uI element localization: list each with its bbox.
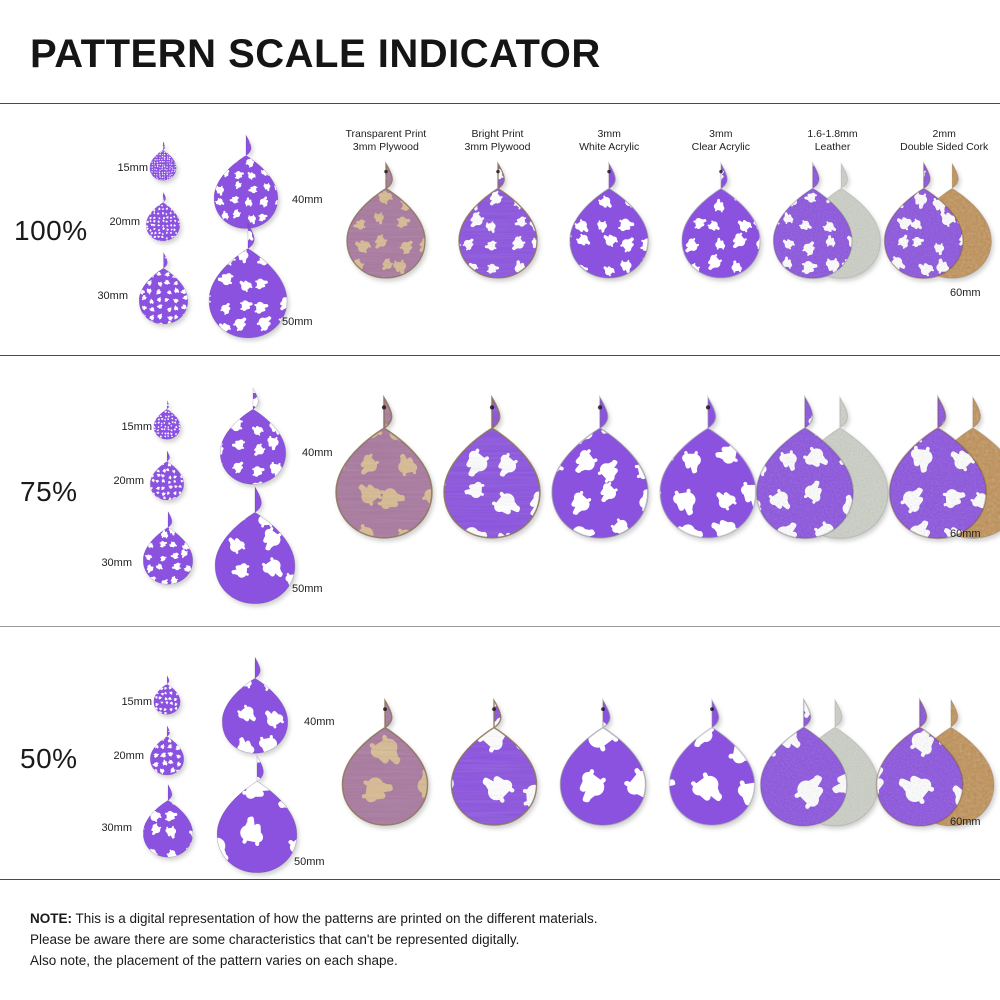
size-tag-30mm: 30mm bbox=[88, 557, 132, 569]
teardrop-40mm bbox=[210, 132, 282, 232]
teardrop-white-acrylic bbox=[565, 160, 653, 282]
size-swatch-40mm bbox=[216, 385, 290, 488]
teardrop-white-acrylic bbox=[546, 393, 654, 543]
size-tag-40mm: 40mm bbox=[292, 194, 323, 206]
divider-before-note bbox=[0, 879, 1000, 880]
note-label: NOTE: bbox=[30, 911, 72, 926]
material-swatch-clear-acrylic bbox=[665, 160, 777, 282]
teardrop-40mm bbox=[216, 385, 290, 488]
material-swatch-bright-print-plywood bbox=[439, 696, 548, 830]
scale-label-50: 50% bbox=[20, 743, 78, 775]
scale-section-100: 100% 15mm 20mm 30mm 40mm 50mm 60mm bbox=[0, 110, 1000, 355]
teardrop-30mm bbox=[140, 509, 196, 587]
material-size-label-60mm: 60mm bbox=[950, 287, 981, 299]
scale-label-100: 100% bbox=[14, 215, 88, 247]
teardrop-double-sided-cork bbox=[883, 393, 1000, 543]
teardrop-transparent-print-plywood bbox=[337, 696, 433, 830]
size-tag-15mm: 15mm bbox=[108, 696, 152, 708]
teardrop-bright-print-plywood bbox=[446, 696, 542, 830]
teardrop-20mm bbox=[148, 724, 186, 777]
material-swatch-bright-print-plywood bbox=[438, 393, 546, 543]
material-swatch-transparent-print-plywood bbox=[330, 696, 439, 830]
material-swatch-clear-acrylic bbox=[658, 696, 767, 830]
teardrop-15mm bbox=[152, 674, 182, 716]
size-chart-100: 15mm 20mm 30mm 40mm 50mm bbox=[100, 128, 330, 343]
teardrop-transparent-print-plywood bbox=[330, 393, 438, 543]
material-swatch-double-sided-cork bbox=[888, 160, 1000, 282]
size-swatch-20mm bbox=[148, 449, 186, 502]
teardrop-50mm bbox=[210, 483, 300, 608]
note-line-3: Also note, the placement of the pattern … bbox=[30, 950, 890, 971]
teardrop-leather bbox=[750, 393, 895, 543]
material-swatch-white-acrylic bbox=[546, 393, 654, 543]
page-title: PATTERN SCALE INDICATOR bbox=[30, 32, 601, 77]
teardrop-leather bbox=[768, 160, 886, 282]
size-tag-15mm: 15mm bbox=[108, 421, 152, 433]
material-swatch-double-sided-cork bbox=[895, 393, 1000, 543]
scale-label-75: 75% bbox=[20, 476, 78, 508]
size-chart-50: 15mm 20mm 30mm 40mm 50mm bbox=[100, 646, 330, 871]
material-swatch-transparent-print-plywood bbox=[330, 393, 438, 543]
teardrop-15mm bbox=[148, 140, 178, 182]
size-tag-20mm: 20mm bbox=[100, 475, 144, 487]
size-swatch-30mm bbox=[140, 782, 196, 860]
material-row-75 bbox=[330, 393, 1000, 543]
size-swatch-15mm bbox=[152, 674, 182, 716]
scale-section-75: 75% 15mm 20mm 30mm 40mm 50mm 60mm bbox=[0, 363, 1000, 626]
size-tag-20mm: 20mm bbox=[100, 750, 144, 762]
material-size-label-60mm: 60mm bbox=[950, 528, 981, 540]
divider-after-75 bbox=[0, 626, 1000, 627]
material-swatch-bright-print-plywood bbox=[442, 160, 554, 282]
teardrop-50mm bbox=[212, 752, 302, 877]
size-swatch-50mm bbox=[210, 483, 300, 608]
teardrop-30mm bbox=[136, 250, 191, 327]
size-swatch-20mm bbox=[144, 190, 182, 243]
note-text-1: This is a digital representation of how … bbox=[72, 911, 598, 926]
teardrop-bright-print-plywood bbox=[438, 393, 546, 543]
size-swatch-40mm bbox=[210, 132, 282, 232]
teardrop-clear-acrylic bbox=[654, 393, 762, 543]
size-swatch-30mm bbox=[140, 509, 196, 587]
note-block: NOTE: This is a digital representation o… bbox=[30, 908, 890, 971]
teardrop-clear-acrylic bbox=[677, 160, 765, 282]
material-swatch-leather bbox=[777, 160, 889, 282]
note-line-2: Please be aware there are some character… bbox=[30, 929, 890, 950]
teardrop-20mm bbox=[144, 190, 182, 243]
size-tag-40mm: 40mm bbox=[302, 447, 333, 459]
teardrop-40mm bbox=[218, 654, 292, 757]
material-swatch-leather bbox=[767, 696, 884, 830]
size-tag-30mm: 30mm bbox=[84, 290, 128, 302]
size-swatch-40mm bbox=[218, 654, 292, 757]
size-swatch-50mm bbox=[204, 220, 292, 342]
teardrop-transparent-print-plywood bbox=[342, 160, 430, 282]
size-swatch-50mm bbox=[212, 752, 302, 877]
teardrop-clear-acrylic bbox=[664, 696, 760, 830]
title-bar: PATTERN SCALE INDICATOR bbox=[0, 0, 1000, 103]
teardrop-double-sided-cork bbox=[879, 160, 997, 282]
note-line-1: NOTE: This is a digital representation o… bbox=[30, 908, 890, 929]
teardrop-bright-print-plywood bbox=[454, 160, 542, 282]
scale-section-50: 50% 15mm 20mm 30mm 40mm 50mm 60mm bbox=[0, 634, 1000, 879]
teardrop-50mm bbox=[204, 220, 292, 342]
size-tag-20mm: 20mm bbox=[96, 216, 140, 228]
teardrop-white-acrylic bbox=[555, 696, 651, 830]
size-tag-15mm: 15mm bbox=[104, 162, 148, 174]
size-swatch-15mm bbox=[152, 399, 182, 441]
teardrop-20mm bbox=[148, 449, 186, 502]
pattern-scale-indicator-page: PATTERN SCALE INDICATOR Transparent Prin… bbox=[0, 0, 1000, 1000]
teardrop-double-sided-cork bbox=[871, 696, 1000, 830]
material-size-label-60mm: 60mm bbox=[950, 816, 981, 828]
size-swatch-20mm bbox=[148, 724, 186, 777]
teardrop-15mm bbox=[152, 399, 182, 441]
material-swatch-clear-acrylic bbox=[654, 393, 762, 543]
material-swatch-transparent-print-plywood bbox=[330, 160, 442, 282]
material-swatch-leather bbox=[762, 393, 895, 543]
teardrop-leather bbox=[755, 696, 884, 830]
size-tag-30mm: 30mm bbox=[88, 822, 132, 834]
material-row-100 bbox=[330, 160, 1000, 282]
material-row-50 bbox=[330, 696, 1000, 830]
material-swatch-white-acrylic bbox=[548, 696, 657, 830]
divider-top bbox=[0, 103, 1000, 104]
teardrop-30mm bbox=[140, 782, 196, 860]
size-swatch-15mm bbox=[148, 140, 178, 182]
size-swatch-30mm bbox=[136, 250, 191, 327]
size-chart-75: 15mm 20mm 30mm 40mm 50mm bbox=[100, 383, 330, 613]
material-swatch-white-acrylic bbox=[553, 160, 665, 282]
material-swatch-double-sided-cork bbox=[883, 696, 1000, 830]
divider-after-100 bbox=[0, 355, 1000, 356]
